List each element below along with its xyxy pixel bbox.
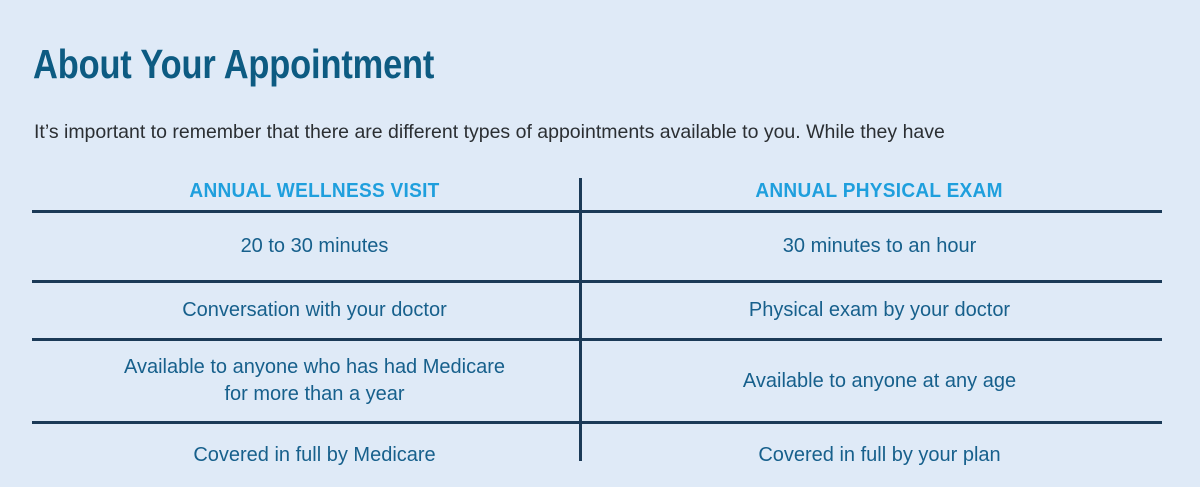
cell-eligibility-line-1: Available to anyone who has had Medicare: [124, 354, 505, 381]
about-your-appointment-panel: About Your Appointment It’s important to…: [0, 0, 1200, 480]
column-header-label-wellness-visit: ANNUAL WELLNESS VISIT: [189, 179, 439, 203]
cell-eligibility-wellness-visit-text: Available to anyone who has had Medicare…: [124, 354, 505, 408]
table-row-activity: Conversation with your doctor Physical e…: [32, 283, 1162, 341]
column-divider: [579, 178, 582, 461]
table-row-eligibility: Available to anyone who has had Medicare…: [32, 341, 1162, 424]
intro-paragraph: It’s important to remember that there ar…: [34, 119, 1200, 145]
cell-eligibility-line-2: for more than a year: [124, 381, 505, 408]
table-header-row: ANNUAL WELLNESS VISIT ANNUAL PHYSICAL EX…: [32, 178, 1162, 213]
cell-cost-physical-exam: Covered in full by your plan: [597, 424, 1162, 487]
cell-duration-physical-exam: 30 minutes to an hour: [597, 213, 1162, 280]
cell-cost-wellness-visit: Covered in full by Medicare: [32, 424, 597, 487]
cell-duration-wellness-visit: 20 to 30 minutes: [32, 213, 597, 280]
appointment-comparison-table: ANNUAL WELLNESS VISIT ANNUAL PHYSICAL EX…: [32, 178, 1162, 487]
column-header-cell-wellness-visit: ANNUAL WELLNESS VISIT: [32, 178, 597, 210]
table-row-cost: Covered in full by Medicare Covered in f…: [32, 424, 1162, 487]
cell-eligibility-wellness-visit: Available to anyone who has had Medicare…: [32, 341, 597, 421]
column-header-label-physical-exam: ANNUAL PHYSICAL EXAM: [756, 179, 1003, 203]
cell-activity-physical-exam: Physical exam by your doctor: [597, 283, 1162, 338]
page-title: About Your Appointment: [33, 41, 434, 87]
table-row-duration: 20 to 30 minutes 30 minutes to an hour: [32, 213, 1162, 283]
cell-eligibility-physical-exam: Available to anyone at any age: [597, 341, 1162, 421]
cell-activity-wellness-visit: Conversation with your doctor: [32, 283, 597, 338]
column-header-cell-physical-exam: ANNUAL PHYSICAL EXAM: [597, 178, 1162, 210]
